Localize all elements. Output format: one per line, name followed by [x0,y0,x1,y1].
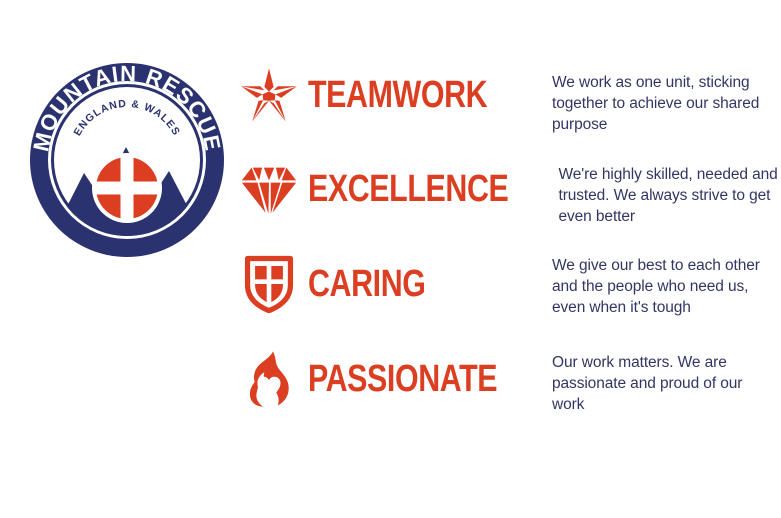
value-title-caring: CARING [308,261,503,307]
flame-heart-icon [238,348,300,410]
value-title-excellence: EXCELLENCE [308,166,508,212]
value-title-excellence-col: EXCELLENCE [300,156,558,212]
value-row-teamwork: TEAMWORK We work as one unit, sticking t… [238,62,778,154]
value-desc-excellence: We're highly skilled, needed and trusted… [558,164,778,227]
value-row-caring: CARING We give our best to each other an… [238,251,778,343]
shield-cross-icon [238,253,300,315]
value-title-caring-col: CARING [300,251,552,307]
logo-medallion [92,153,162,223]
value-row-excellence: EXCELLENCE We're highly skilled, needed … [238,156,778,248]
diamond-icon [238,158,300,220]
value-desc-caring: We give our best to each other and the p… [552,255,778,318]
values-list: TEAMWORK We work as one unit, sticking t… [238,62,778,438]
mountain-rescue-logo: MOUNTAIN RESCUE ENGLAND & WALES [22,55,232,265]
value-title-passionate: PASSIONATE [308,356,503,402]
value-title-passionate-col: PASSIONATE [300,346,552,402]
value-title-teamwork-col: TEAMWORK [300,62,552,118]
values-poster: MOUNTAIN RESCUE ENGLAND & WALES [0,0,781,518]
value-row-passionate: PASSIONATE Our work matters. We are pass… [238,346,778,438]
value-desc-teamwork: We work as one unit, sticking together t… [552,72,778,135]
value-desc-passionate: Our work matters. We are passionate and … [552,352,778,415]
star-icon [238,64,300,126]
value-title-teamwork: TEAMWORK [308,72,503,118]
